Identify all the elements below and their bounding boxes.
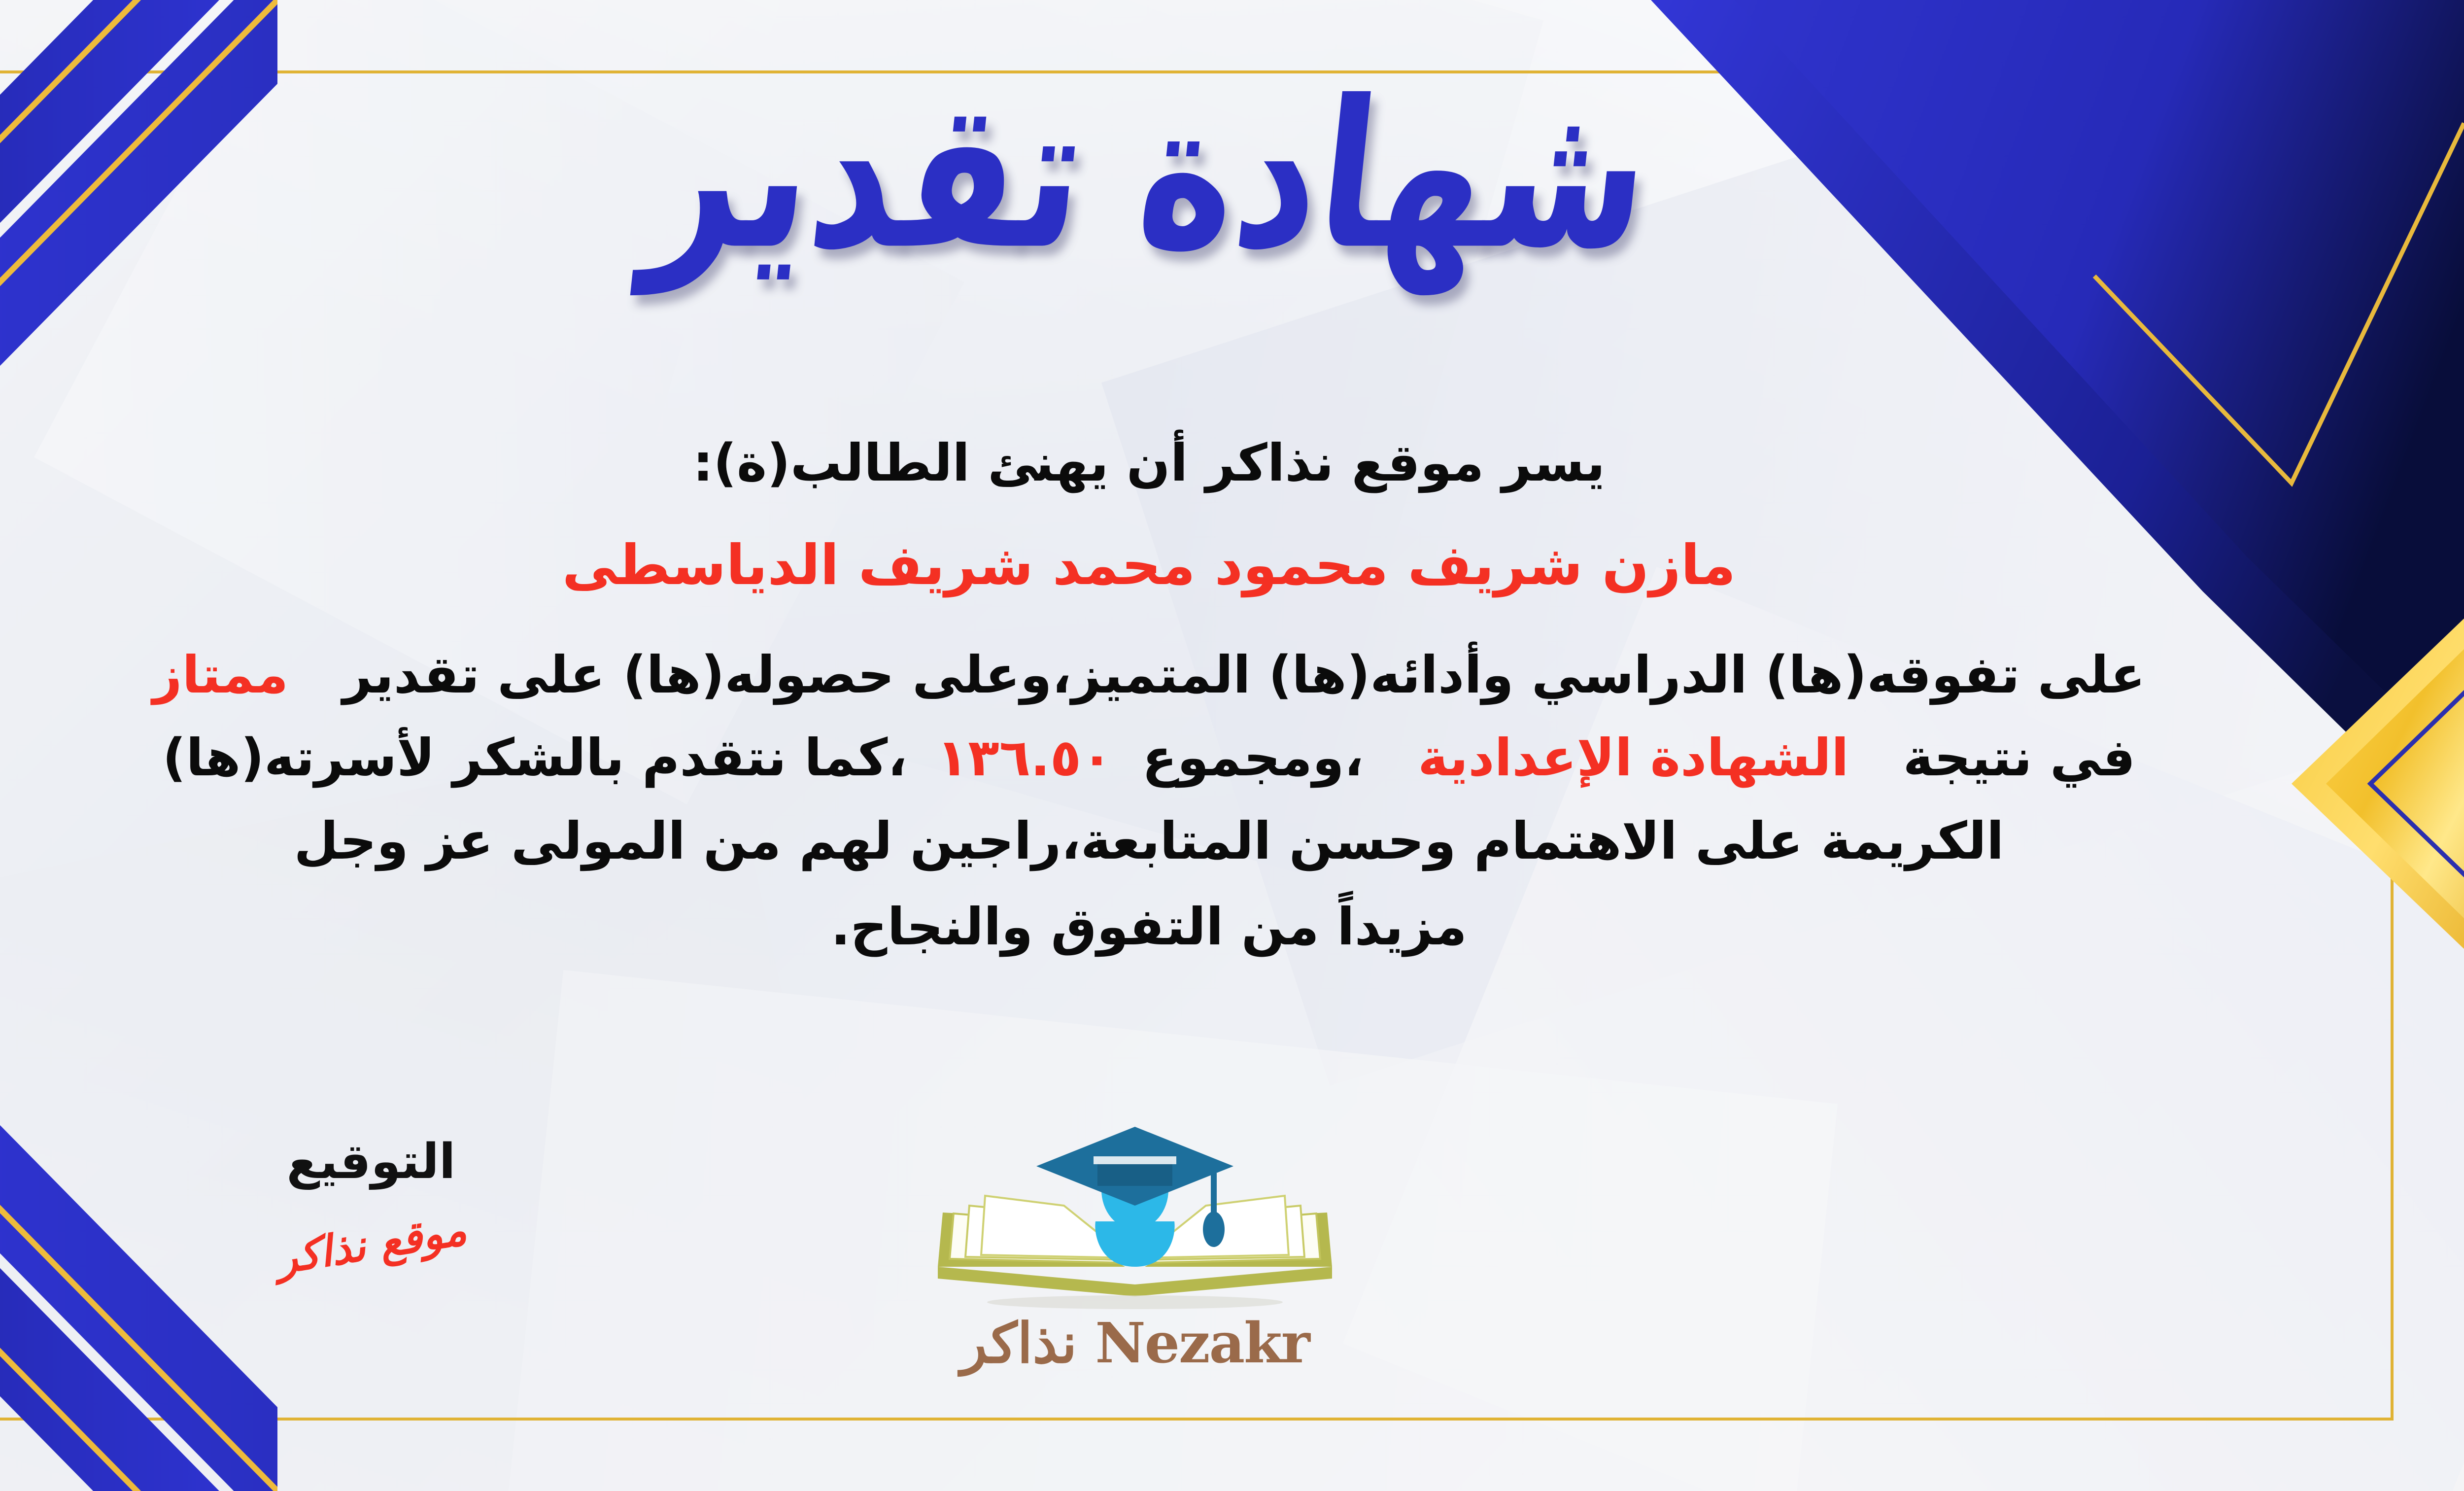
student-name: مازن شريف محمود محمد شريف الدياسطى	[0, 521, 2306, 610]
certificate-body: يسر موقع نذاكر أن يهنئ الطالب(ة): مازن ش…	[0, 421, 2306, 969]
certificate-type: الشهادة الإعدادية	[1418, 728, 1849, 788]
grade-value: ممتاز	[153, 645, 289, 705]
intro-line: يسر موقع نذاكر أن يهنئ الطالب(ة):	[0, 421, 2306, 504]
title-container: شهادة تقدير	[0, 74, 2464, 277]
closing-line: مزيداً من التفوق والنجاح.	[0, 885, 2306, 968]
signature-block: التوقيع موقع نذاكر	[218, 1134, 524, 1269]
achievement-text: على تفوقه(ها) الدراسي وأدائه(ها) المتميز…	[342, 645, 2145, 705]
achievement-line: على تفوقه(ها) الدراسي وأدائه(ها) المتميز…	[0, 633, 2306, 716]
thanks-prefix: ،كما نتقدم بالشكر لأسرته(ها)	[163, 728, 907, 788]
total-label: ،ومجموع	[1142, 728, 1364, 788]
signature-label: التوقيع	[218, 1134, 524, 1190]
result-line: في نتيجةالشهادة الإعدادية،ومجموع١٣٦.٥٠،ك…	[0, 716, 2306, 799]
site-logo: Nezakr نذاكر	[918, 1119, 1352, 1376]
certificate-title: شهادة تقدير	[636, 48, 1662, 303]
total-score: ١٣٦.٥٠	[937, 728, 1113, 788]
graduation-book-logo-icon	[918, 1119, 1352, 1316]
certificate-canvas: شهادة تقدير يسر موقع نذاكر أن يهنئ الطال…	[0, 0, 2464, 1491]
family-thanks-line: الكريمة على الاهتمام وحسن المتابعة،راجين…	[0, 799, 2306, 882]
logo-wordmark: Nezakr نذاكر	[918, 1311, 1352, 1376]
result-prefix: في نتيجة	[1903, 728, 2136, 788]
